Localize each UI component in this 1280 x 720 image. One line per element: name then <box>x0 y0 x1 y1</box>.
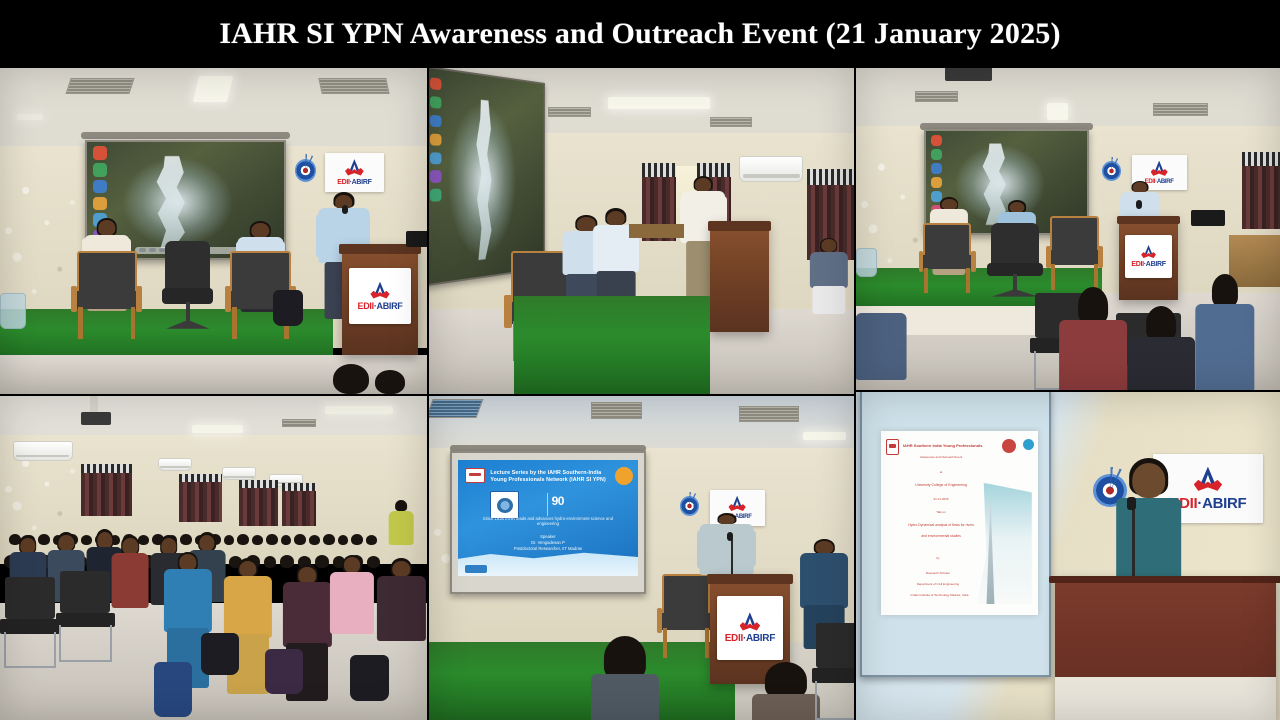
ceiling-grille <box>66 78 135 94</box>
chair-wooden-empty <box>1047 216 1102 290</box>
podium-sign-label: EDII·ABIRF <box>358 302 403 311</box>
podium-sign-label: EDII·ABIRF <box>725 634 775 644</box>
microphone-stand <box>1132 507 1135 586</box>
audience-head <box>333 364 369 394</box>
laptop <box>406 231 427 247</box>
podium-sign: EDII·ABIRF <box>1125 235 1172 279</box>
ceiling-light <box>803 432 846 440</box>
slide-talk-title-2: and environmental studies <box>886 534 996 538</box>
ceiling-grille <box>710 117 753 127</box>
podium: EDII·ABIRF <box>1119 216 1178 300</box>
wall-poster-abirf: EDII·ABIRF <box>325 153 385 192</box>
abirf-logo-icon <box>728 496 747 513</box>
scene-bottom-left <box>0 396 427 720</box>
scene-top-right: EDII·ABIRF <box>856 68 1280 390</box>
abirf-logo-icon <box>739 612 762 632</box>
microphone-icon <box>342 205 348 214</box>
slide-speaker-block: Speaker Dr. Vengadesan P Postdoctoral Re… <box>490 534 605 551</box>
slide-footer-logo-icon <box>465 565 487 573</box>
slide-anniversary-badge-icon <box>615 467 633 485</box>
desktop-icon <box>93 146 106 159</box>
ceiling-light <box>193 76 234 102</box>
slide-subtitle-line: Awareness and Outreach Event <box>897 455 985 459</box>
scene-bottom-center: Lecture Series by the IAHR Southern-Indi… <box>429 396 854 720</box>
abirf-logo-icon <box>344 159 364 177</box>
audience-member-blue <box>1195 274 1254 390</box>
slide-talk-title: Hydro-Dynamical analysis of flows for ri… <box>886 523 996 527</box>
ceiling-grille <box>915 91 957 102</box>
slide-institution-logo-icon <box>465 468 485 483</box>
slide-role-line: Research Scholar <box>897 571 979 575</box>
photo-bottom-right: IAHR Southern India Young Professionals … <box>856 392 1280 720</box>
chair-steel <box>812 623 855 720</box>
audience-head <box>375 370 405 394</box>
foreground-audience-head <box>591 636 659 720</box>
chair-wooden <box>73 251 141 339</box>
podium: EDII·ABIRF <box>342 244 419 355</box>
side-table <box>629 224 684 237</box>
stage-green-carpet <box>514 296 710 394</box>
ceiling-projector-icon <box>81 412 111 425</box>
desktop-icon <box>93 197 106 210</box>
poster-header: IAHR SI YPN Awareness and Outreach Event… <box>0 0 1280 68</box>
abirf-logo-icon <box>1192 467 1223 493</box>
backpack <box>350 655 388 700</box>
air-conditioner-icon <box>158 458 192 471</box>
slide-logo-icon <box>1023 439 1034 450</box>
slide-programme: IAHR Southern India Young Professionals … <box>881 431 1038 615</box>
ceiling-projector-icon <box>945 68 992 81</box>
podium-top <box>1117 216 1180 224</box>
ceiling-light <box>325 406 393 414</box>
audience-member-red <box>1060 287 1128 390</box>
water-can <box>0 293 26 329</box>
podium <box>710 221 770 332</box>
backpack <box>201 633 239 675</box>
podium-sign: EDII·ABIRF <box>717 596 783 660</box>
podium-top <box>708 221 771 231</box>
chair-steel <box>56 571 116 662</box>
photo-bottom-left <box>0 396 427 720</box>
photo-grid: EDII·ABIRF <box>0 68 1280 720</box>
slide-tagline: Since 1935 IAHR leads and advances hydro… <box>480 516 617 527</box>
projection-screen: Lecture Series by the IAHR Southern-Indi… <box>450 451 646 594</box>
standing-person-back <box>389 500 415 545</box>
slide-institute-line: Indian Institute of Technology Madras, I… <box>888 593 992 597</box>
slide-title-line: IAHR Southern India Young Professionals <box>894 442 991 450</box>
podium-sign-label: EDII·ABIRF <box>1131 261 1165 268</box>
curtain <box>81 464 132 516</box>
chair-office-empty <box>162 241 213 329</box>
event-photo-collage-poster: IAHR SI YPN Awareness and Outreach Event… <box>0 0 1280 720</box>
screen-roller <box>81 132 290 139</box>
backpack <box>265 649 303 694</box>
river-wallpaper <box>142 156 201 249</box>
audience-member-red-shirt <box>111 535 149 626</box>
slide-venue-line: University College of Engineering <box>894 483 988 487</box>
river-wallpaper <box>468 98 499 261</box>
backpack <box>154 662 192 717</box>
slide-heading: Lecture Series by the IAHR Southern-Indi… <box>490 470 609 483</box>
microphone-icon <box>727 532 733 541</box>
desktop-icon <box>93 180 106 193</box>
ceiling-light <box>192 425 243 433</box>
scene-top-center <box>429 68 854 394</box>
ceiling-light <box>608 97 710 108</box>
microphone-icon <box>1136 200 1142 209</box>
audience-member <box>807 238 850 316</box>
foreground-audience-head <box>752 662 820 720</box>
microphone-stand <box>731 539 733 578</box>
abirf-logo-icon <box>1140 245 1156 259</box>
podium-sign: EDII·ABIRF <box>349 268 410 323</box>
abirf-logo-icon <box>370 282 391 300</box>
slide-dept-line: Department of Civil Engineering <box>894 582 982 586</box>
curtain <box>1242 152 1280 229</box>
chair-office <box>987 223 1042 297</box>
page-title: IAHR SI YPN Awareness and Outreach Event… <box>219 17 1060 51</box>
slide-speaker-affiliation: Postdoctoral Researcher, IIT Madras <box>490 546 605 552</box>
chair-steel <box>0 577 60 668</box>
ceiling-grille <box>282 419 316 427</box>
water-can <box>856 248 877 277</box>
backpack <box>273 290 303 326</box>
desktop-icon <box>93 163 106 176</box>
podium-top <box>707 574 793 584</box>
ceiling-light <box>1047 103 1068 119</box>
chair-wooden <box>920 223 975 294</box>
ceiling-grille <box>429 399 484 418</box>
ceiling-grille <box>739 406 799 422</box>
photo-bottom-center: Lecture Series by the IAHR Southern-Indi… <box>429 396 854 720</box>
podium-top <box>1049 576 1280 583</box>
photo-top-center <box>429 68 854 394</box>
audience-member-left <box>856 313 907 390</box>
abirf-logo-icon <box>1150 161 1169 178</box>
slide-seal-icon <box>1002 439 1016 453</box>
rosette-decoration-icon <box>1102 161 1121 180</box>
photo-top-right: EDII·ABIRF <box>856 68 1280 390</box>
audience-member-dark <box>1127 306 1195 390</box>
desktop-icon-column <box>429 77 447 232</box>
scene-top-left: EDII·ABIRF <box>0 68 427 394</box>
photo-top-left: EDII·ABIRF <box>0 68 427 394</box>
air-conditioner-icon <box>739 156 803 182</box>
microphone-icon <box>1127 497 1136 510</box>
slide-iahr-title: Lecture Series by the IAHR Southern-Indi… <box>458 460 638 576</box>
air-conditioner-icon <box>13 441 73 460</box>
ceiling-grille <box>1153 103 1208 116</box>
ceiling-light <box>17 114 43 121</box>
slide-talk-label: Talk on <box>900 510 982 514</box>
ceiling-grille <box>591 402 642 418</box>
slide-anniversary-number: 90 <box>552 494 564 508</box>
laptop <box>1191 210 1225 226</box>
ceiling-grille <box>548 107 591 117</box>
rosette-decoration-icon <box>295 159 316 182</box>
slide-date-line: 21.01.2025 <box>900 497 982 501</box>
air-conditioner-icon <box>222 467 256 480</box>
foreground-audience <box>333 348 405 394</box>
wall-poster-label: EDII·ABIRF <box>337 179 371 186</box>
podium-base <box>1055 677 1275 720</box>
scene-bottom-right: IAHR Southern India Young Professionals … <box>856 392 1280 720</box>
ceiling-grille <box>319 78 391 94</box>
slide-by-label: by <box>907 556 970 560</box>
slide-at-line: at <box>897 470 985 474</box>
